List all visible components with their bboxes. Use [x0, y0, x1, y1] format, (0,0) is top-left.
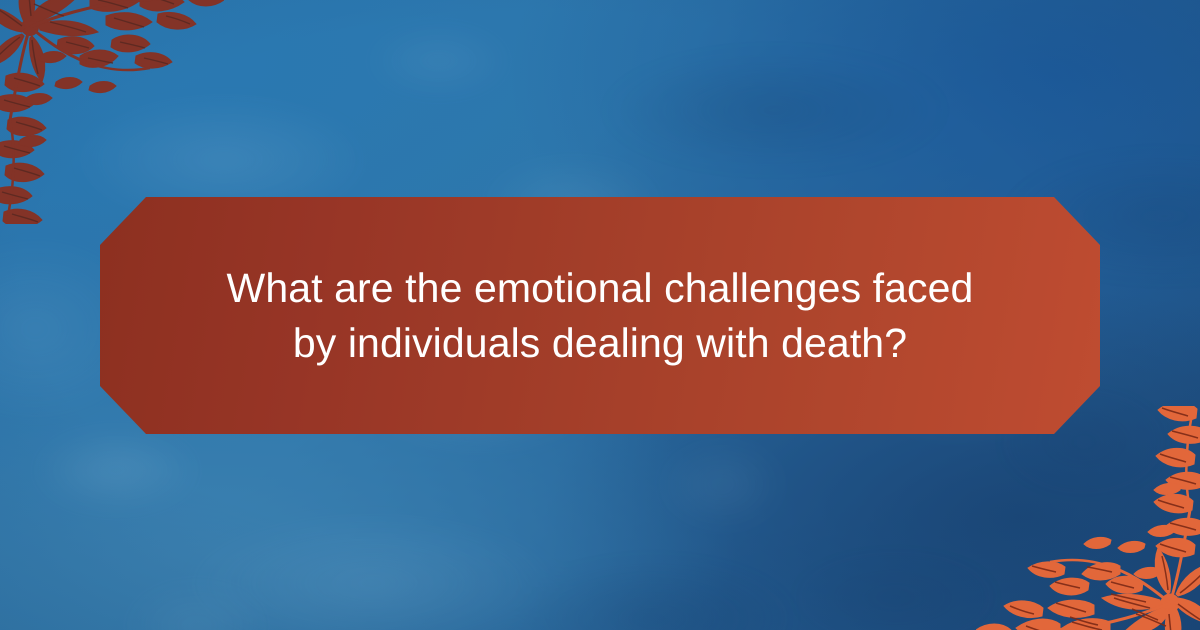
question-text: What are the emotional challenges faced … [210, 261, 990, 370]
question-card: What are the emotional challenges faced … [0, 0, 1200, 630]
question-banner: What are the emotional challenges faced … [100, 197, 1100, 434]
